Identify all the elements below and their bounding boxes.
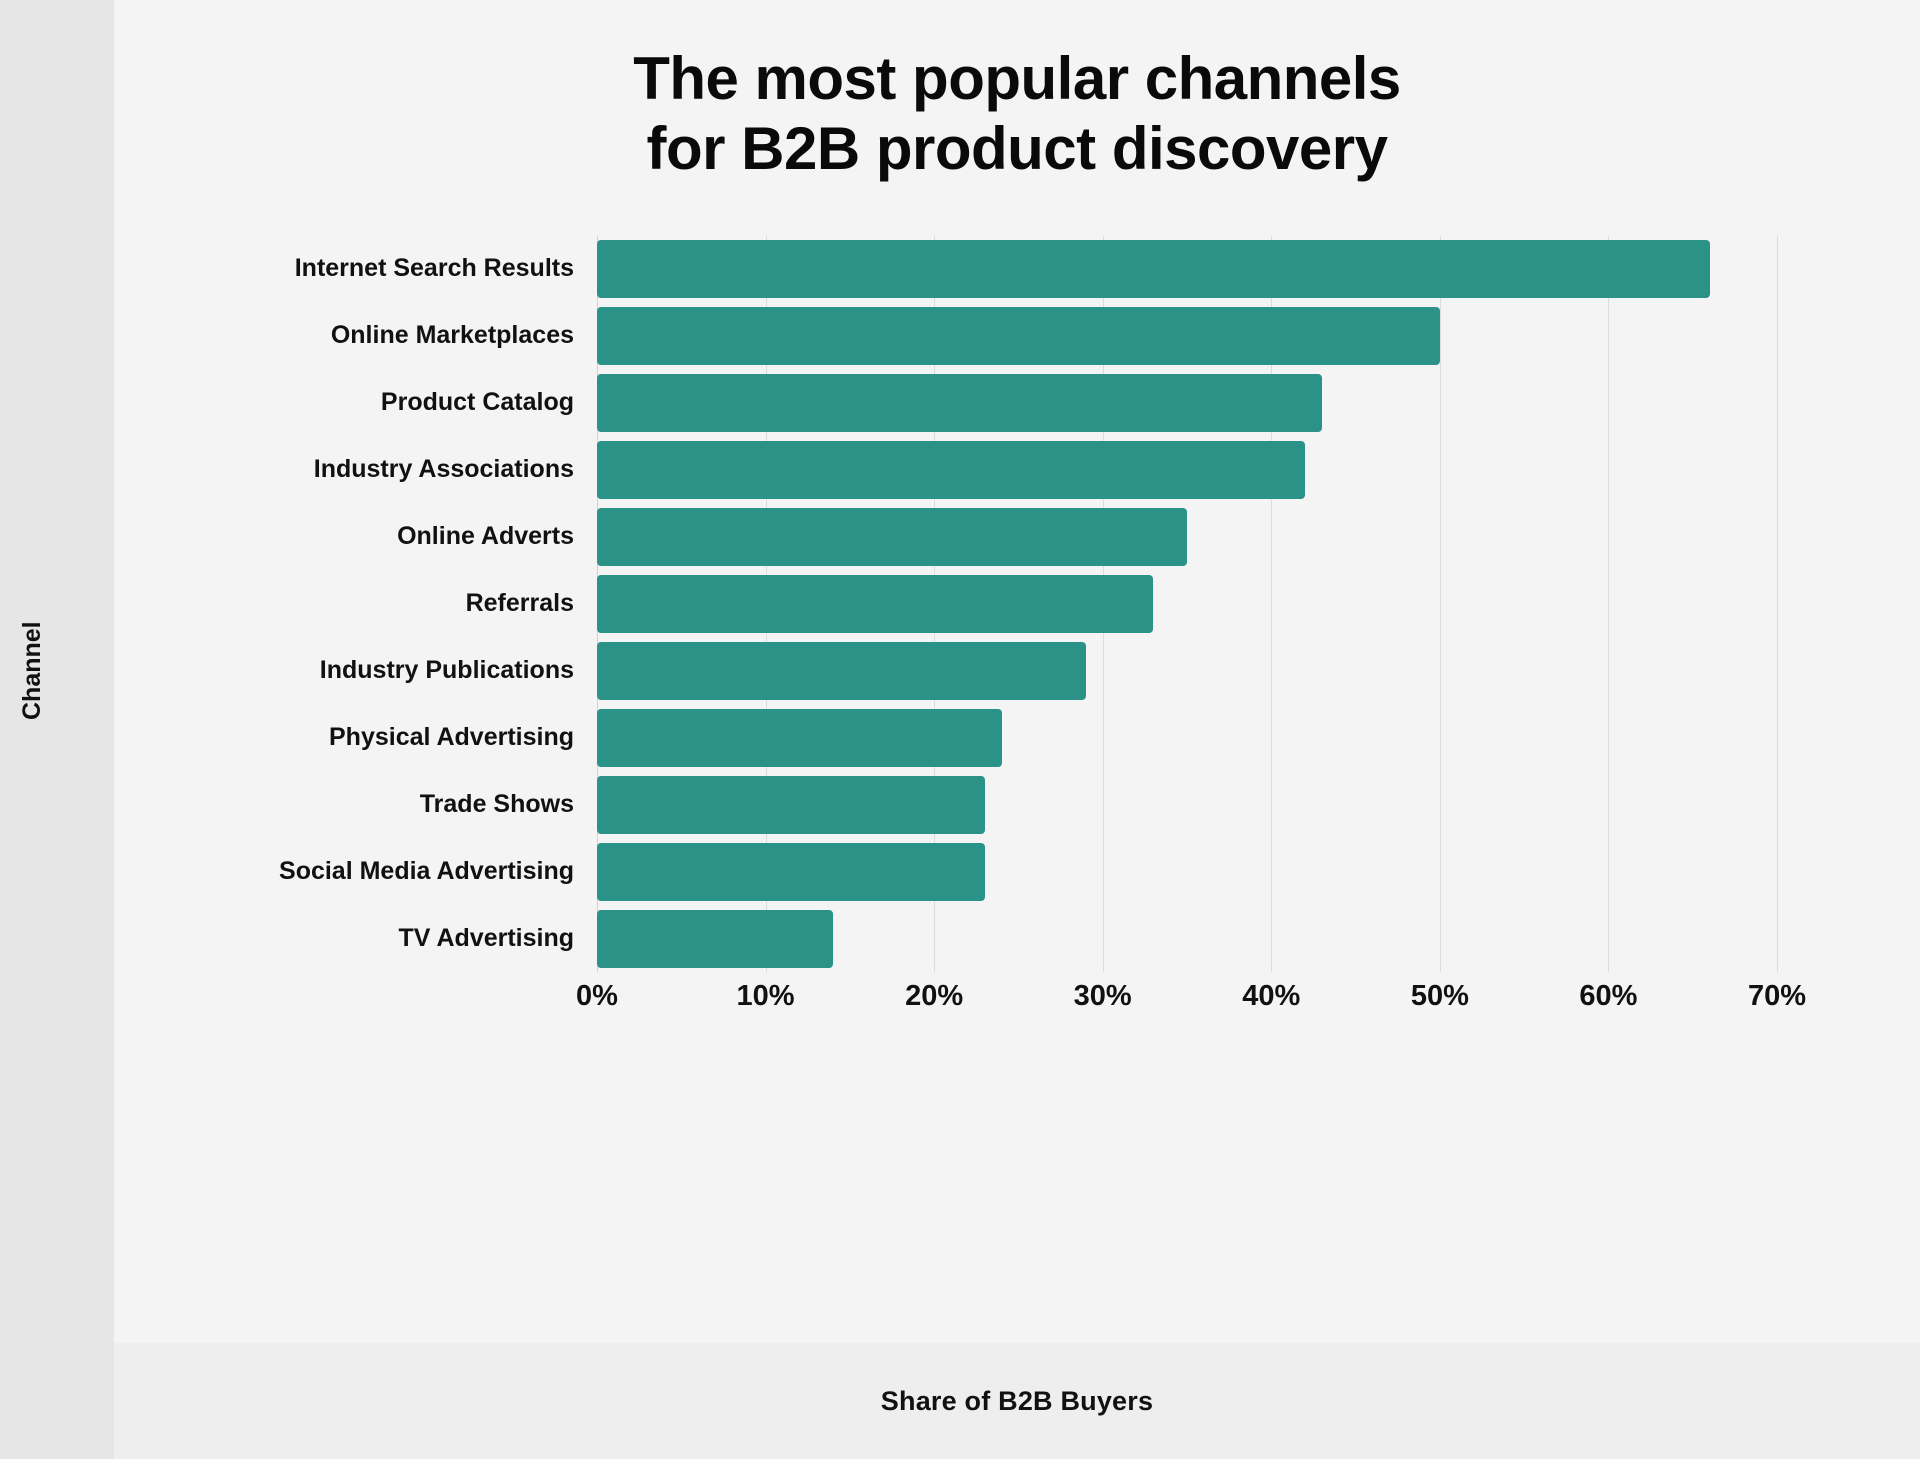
page-title-line-1: The most popular channels [114,44,1920,114]
x-axis-footer-band: Share of B2B Buyers [114,1343,1920,1459]
y-axis-tick-label: Physical Advertising [150,725,574,750]
y-axis-tick-label: TV Advertising [150,926,574,951]
x-axis-title: Share of B2B Buyers [881,1386,1153,1417]
page-title-line-2: for B2B product discovery [114,114,1920,184]
bar[interactable] [597,843,985,901]
x-axis-tick-label: 40% [1242,980,1300,1013]
y-axis-tick-label: Industry Associations [150,457,574,482]
x-axis-tick-label: 60% [1579,980,1637,1013]
bar-series [597,236,1777,972]
y-axis-tick-label: Referrals [150,591,574,616]
y-axis-tick-label: Product Catalog [150,390,574,415]
x-axis-tick-label: 0% [576,980,618,1013]
bar[interactable] [597,776,985,834]
x-axis-tick-label: 10% [737,980,795,1013]
y-axis-tick-label: Online Adverts [150,524,574,549]
y-axis-tick-labels: Internet Search ResultsOnline Marketplac… [150,236,574,972]
x-axis-tick-label: 30% [1074,980,1132,1013]
x-axis-tick-label: 70% [1748,980,1806,1013]
x-axis-tick-label: 20% [905,980,963,1013]
y-axis-tick-label: Internet Search Results [150,256,574,281]
y-axis-tick-label: Industry Publications [150,658,574,683]
y-axis-title: Channel [18,540,47,720]
bar[interactable] [597,709,1002,767]
y-axis-tick-label: Social Media Advertising [150,859,574,884]
left-gutter-strip [0,0,114,1459]
y-axis-tick-label: Online Marketplaces [150,323,574,348]
plot-area [597,236,1777,972]
y-axis-tick-label: Trade Shows [150,792,574,817]
bar[interactable] [597,374,1322,432]
page-title: The most popular channels for B2B produc… [114,44,1920,184]
x-axis-tick-label: 50% [1411,980,1469,1013]
bar[interactable] [597,642,1086,700]
bar[interactable] [597,240,1710,298]
x-axis-tick-labels: 0%10%20%30%40%50%60%70% [597,980,1777,1026]
bar[interactable] [597,910,833,968]
bar[interactable] [597,307,1440,365]
bar[interactable] [597,441,1305,499]
bar[interactable] [597,508,1187,566]
chart-page: The most popular channels for B2B produc… [0,0,1920,1459]
bar[interactable] [597,575,1153,633]
